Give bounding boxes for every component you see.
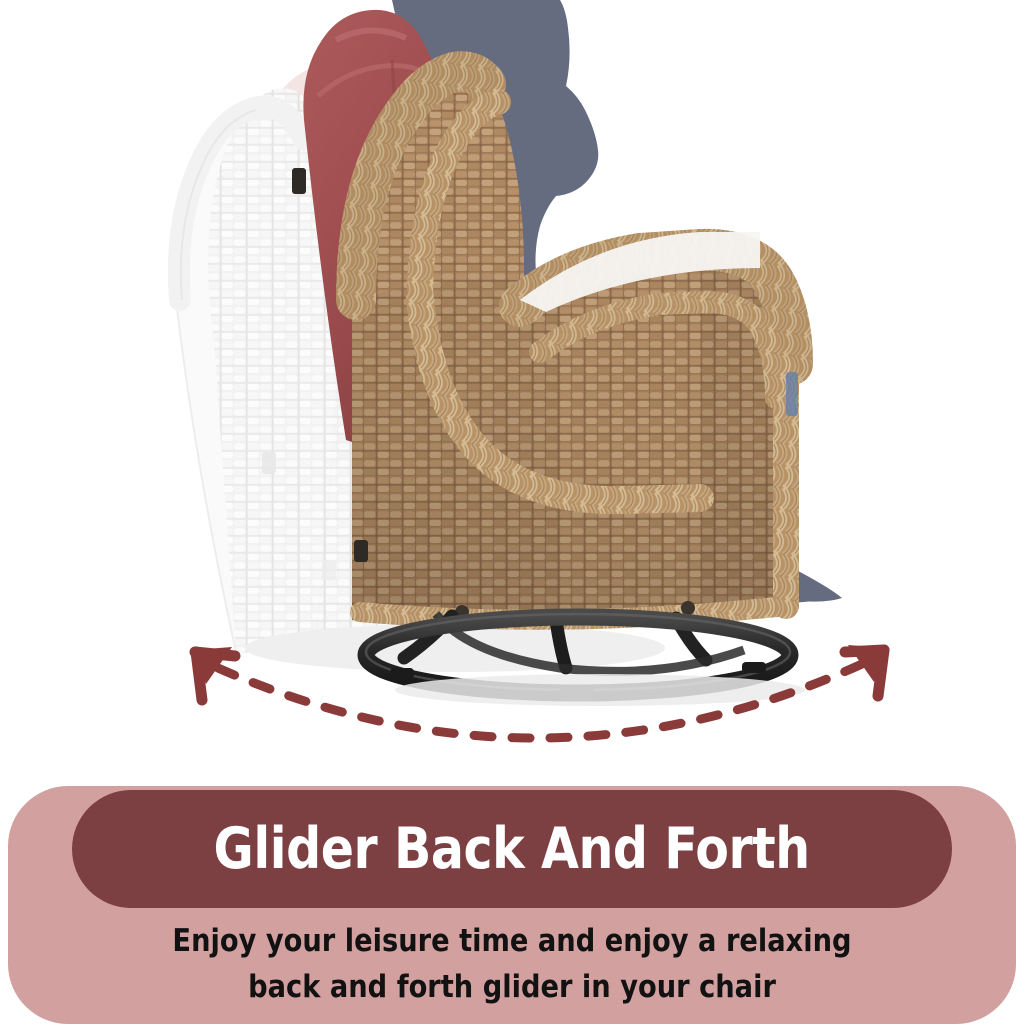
hardware-bolt bbox=[681, 601, 695, 615]
hardware-clip bbox=[292, 168, 306, 194]
headline-pill: Glider Back And Forth bbox=[72, 790, 952, 908]
headline-text: Glider Back And Forth bbox=[214, 821, 810, 878]
subcaption-line-2: back and forth glider in your chair bbox=[68, 964, 955, 1010]
seat-cushion-peek bbox=[786, 372, 798, 416]
subcaption: Enjoy your leisure time and enjoy a rela… bbox=[8, 918, 1016, 1010]
hardware-clip bbox=[354, 540, 368, 562]
base-foot bbox=[742, 662, 766, 673]
caption-banner: Glider Back And Forth Enjoy your leisure… bbox=[8, 786, 1016, 1024]
subcaption-line-1: Enjoy your leisure time and enjoy a rela… bbox=[68, 918, 955, 964]
product-illustration bbox=[0, 0, 1024, 800]
product-photo bbox=[0, 0, 1024, 800]
product-feature-card: Glider Back And Forth Enjoy your leisure… bbox=[0, 0, 1024, 1024]
floor-shadow bbox=[395, 674, 805, 706]
base-foot bbox=[390, 668, 414, 679]
